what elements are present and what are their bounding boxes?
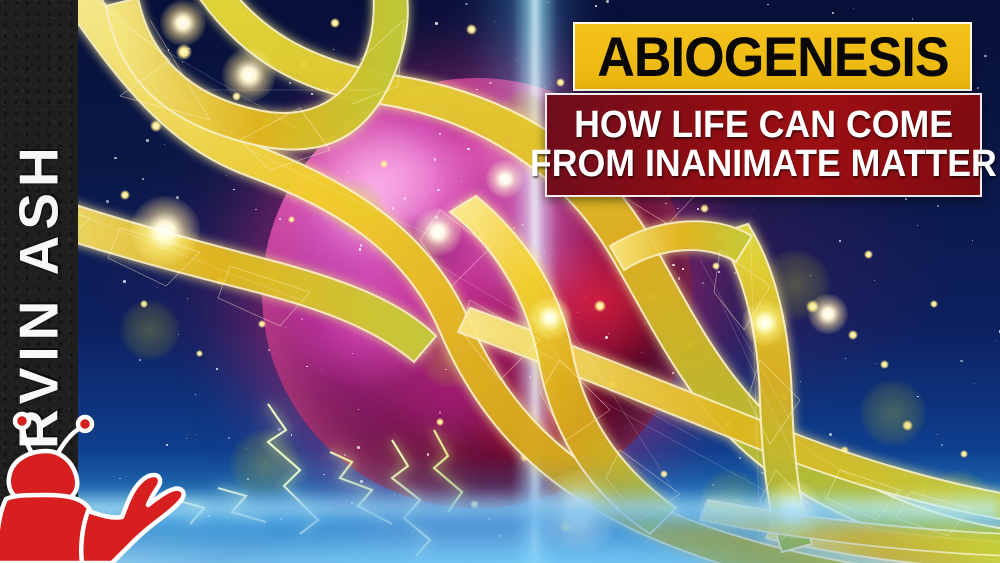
- title-subtitle-line2: FROM INANIMATE MATTER: [530, 145, 997, 184]
- title-headline-banner: ABIOGENESIS: [573, 22, 972, 91]
- title-headline-text: ABIOGENESIS: [597, 29, 949, 85]
- title-subtitle-banner: HOW LIFE CAN COME FROM INANIMATE MATTER: [545, 93, 982, 197]
- title-subtitle-line1: HOW LIFE CAN COME: [574, 106, 953, 145]
- red-alien-mascot-icon: [0, 407, 186, 563]
- thumbnail-canvas: /* stars injected below */: [0, 0, 1000, 563]
